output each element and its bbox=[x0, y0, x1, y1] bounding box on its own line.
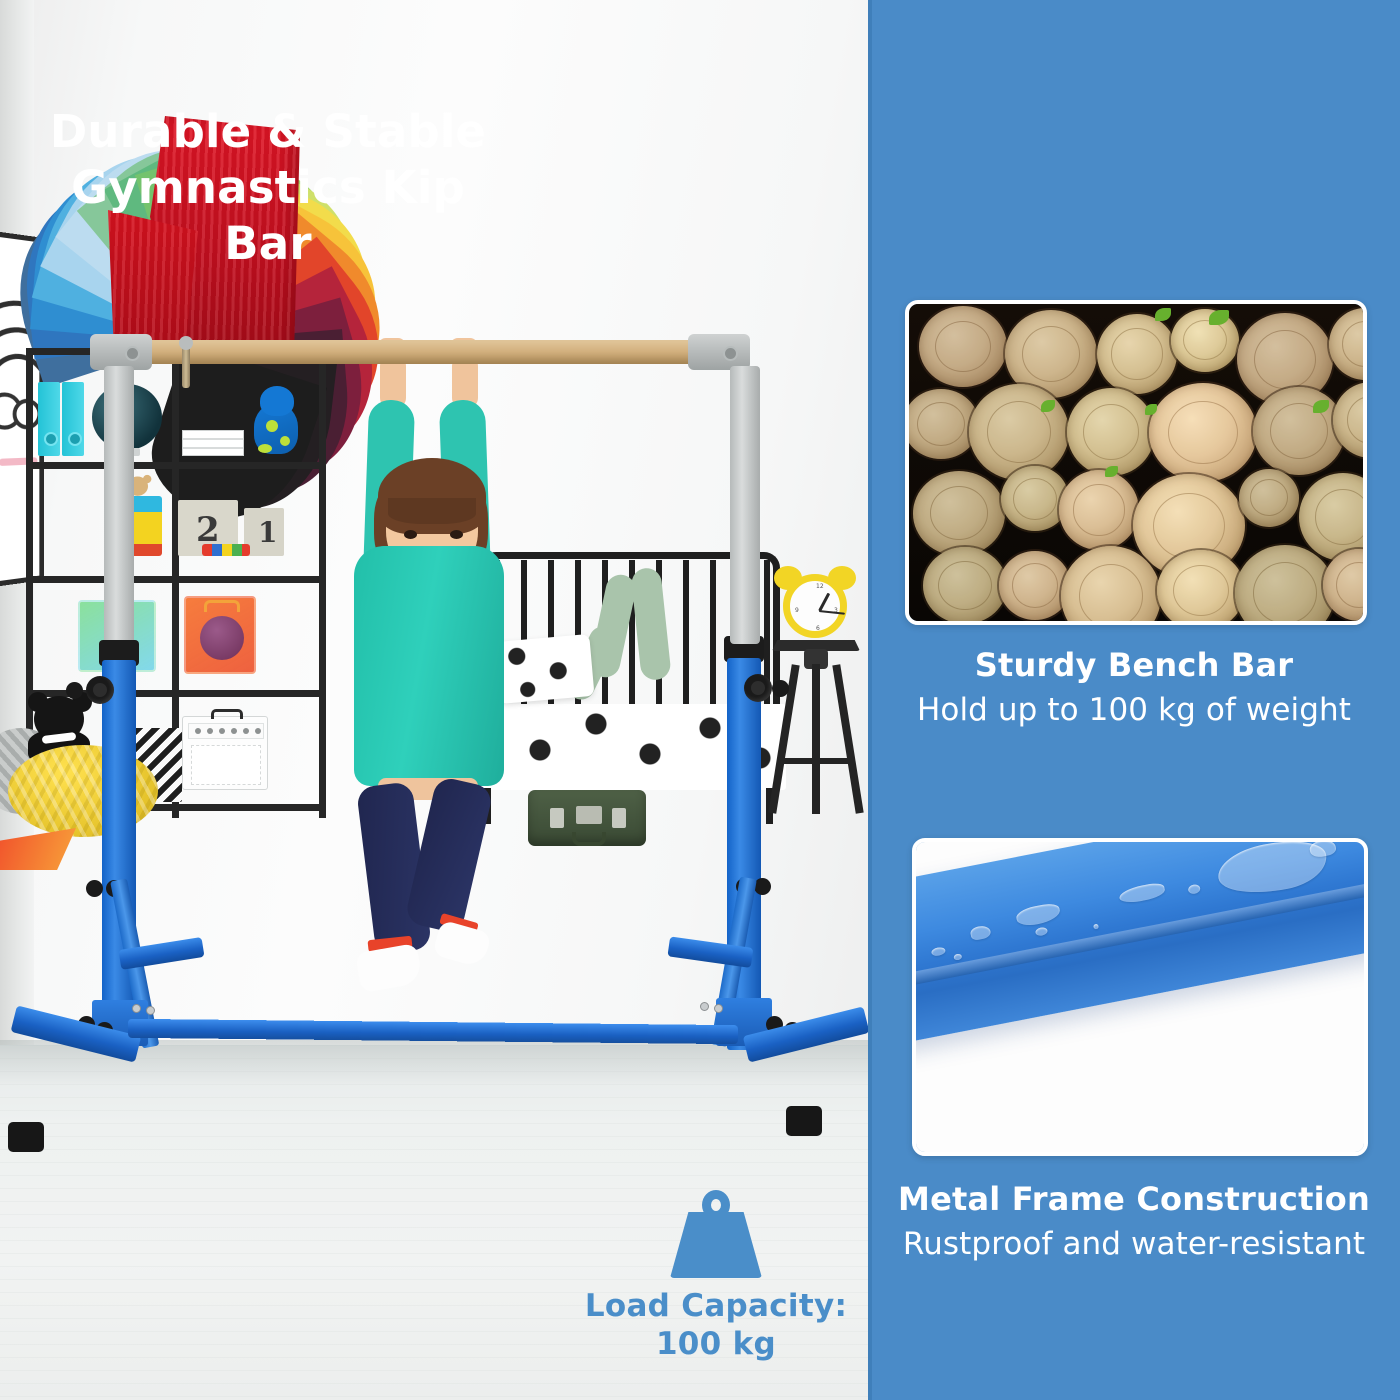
right-eye bbox=[450, 530, 463, 539]
product-marketing-image: 2 1 bbox=[0, 0, 1400, 1400]
right-gray-column bbox=[730, 366, 760, 644]
log-end bbox=[913, 471, 1005, 556]
left-height-knob bbox=[86, 676, 114, 704]
log-end bbox=[919, 306, 1007, 387]
teal-shirt bbox=[354, 546, 504, 786]
weight-icon bbox=[664, 1190, 768, 1282]
black-tripod-stool bbox=[770, 640, 862, 830]
load-capacity-badge: Load Capacity: 100 kg bbox=[576, 1190, 856, 1364]
log-end bbox=[1001, 466, 1069, 531]
log-end bbox=[1067, 388, 1155, 476]
bangs bbox=[388, 498, 476, 524]
headline-line-1: Durable & Stable bbox=[22, 104, 514, 160]
bed-bar bbox=[710, 560, 716, 728]
log-end bbox=[1171, 309, 1239, 372]
right-foot-cap bbox=[786, 1106, 822, 1136]
blue-metal-bar-water-photo bbox=[912, 838, 1368, 1156]
lego-bricks bbox=[202, 544, 250, 556]
headline-line-2: Gymnastics Kip Bar bbox=[22, 160, 514, 272]
right-height-knob bbox=[744, 674, 772, 702]
log-end bbox=[999, 551, 1071, 620]
stacked-logs-photo bbox=[905, 300, 1367, 625]
blue-dino-plush bbox=[248, 388, 304, 458]
white-sock bbox=[432, 920, 492, 969]
teal-binder bbox=[38, 382, 60, 456]
log-end bbox=[1157, 550, 1245, 625]
log-end bbox=[1149, 383, 1257, 482]
load-capacity-line1: Load Capacity: bbox=[576, 1288, 856, 1326]
left-foot-cap bbox=[8, 1122, 44, 1152]
clock-face: 12 3 6 9 bbox=[783, 574, 847, 638]
log-end bbox=[1239, 469, 1299, 527]
right-bar-bracket bbox=[688, 334, 750, 370]
left-eye bbox=[404, 530, 417, 539]
stacked-books bbox=[182, 430, 244, 456]
load-capacity-line2: 100 kg bbox=[576, 1326, 856, 1364]
headline: Durable & Stable Gymnastics Kip Bar bbox=[22, 104, 514, 271]
left-gray-column bbox=[104, 366, 134, 648]
left-brace-knob bbox=[86, 880, 103, 897]
feature-1-subtitle: Hold up to 100 kg of weight bbox=[868, 692, 1400, 728]
log-end bbox=[1059, 470, 1139, 550]
log-end bbox=[905, 389, 979, 459]
white-amplifier bbox=[182, 716, 268, 790]
yellow-alarm-clock: 12 3 6 9 bbox=[772, 566, 858, 648]
right-lock-pin bbox=[772, 680, 789, 697]
log-end bbox=[969, 384, 1069, 480]
feature-2-subtitle: Rustproof and water-resistant bbox=[868, 1226, 1400, 1262]
feature-2-title: Metal Frame Construction bbox=[868, 1180, 1400, 1218]
child-hanging-on-bar bbox=[300, 330, 550, 970]
log-end bbox=[1097, 314, 1177, 394]
teal-binder bbox=[62, 382, 84, 456]
left-bar-bracket bbox=[90, 334, 152, 370]
feature-1-title: Sturdy Bench Bar bbox=[868, 646, 1400, 684]
umbrella-hub bbox=[179, 336, 193, 350]
orange-crate bbox=[184, 596, 256, 674]
log-end bbox=[1253, 387, 1345, 475]
legs bbox=[362, 762, 494, 952]
canvas-bin-1: 1 bbox=[244, 508, 284, 556]
left-lock-pin bbox=[66, 682, 83, 699]
wooden-bar-rail bbox=[128, 340, 744, 364]
bed-bar bbox=[683, 560, 689, 728]
log-end bbox=[923, 547, 1007, 624]
